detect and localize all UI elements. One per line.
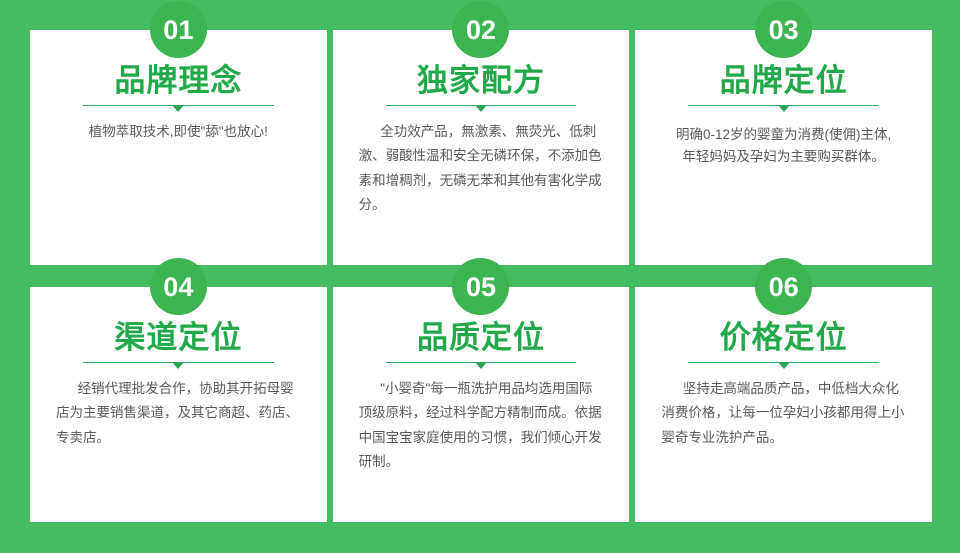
feature-card-02: 02 独家配方 全功效产品，無激素、無荧光、低刺激、弱酸性温和安全无磷环保，不添… bbox=[333, 30, 630, 265]
card-number-badge: 03 bbox=[755, 1, 812, 58]
chevron-down-icon bbox=[475, 362, 487, 369]
card-description: 坚持走高端品质产品，中低档大众化消费价格，让每一位孕妇小孩都用得上小婴奇专业洗护… bbox=[661, 377, 906, 449]
card-content: 价格定位 坚持走高端品质产品，中低档大众化消费价格，让每一位孕妇小孩都用得上小婴… bbox=[635, 287, 932, 522]
card-title: 价格定位 bbox=[720, 321, 848, 354]
card-description: 经销代理批发合作，协助其开拓母婴店为主要销售渠道，及其它商超、药店、专卖店。 bbox=[56, 377, 301, 449]
card-content: 独家配方 全功效产品，無激素、無荧光、低刺激、弱酸性温和安全无磷环保，不添加色素… bbox=[333, 30, 630, 265]
card-description: 植物萃取技术,即使"舔"也放心! bbox=[56, 120, 301, 144]
feature-card-grid: 01 品牌理念 植物萃取技术,即使"舔"也放心! 02 独家配方 全功效产品，無… bbox=[0, 0, 960, 553]
feature-card-05: 05 品质定位 "小婴奇"每一瓶洗护用品均选用国际顶级原料，经过科学配方精制而成… bbox=[333, 287, 630, 522]
card-description: 全功效产品，無激素、無荧光、低刺激、弱酸性温和安全无磷环保，不添加色素和增稠剂，… bbox=[357, 120, 606, 216]
chevron-down-icon bbox=[172, 105, 184, 112]
card-number: 06 bbox=[769, 274, 799, 301]
card-number-badge: 04 bbox=[150, 258, 207, 315]
card-content: 品质定位 "小婴奇"每一瓶洗护用品均选用国际顶级原料，经过科学配方精制而成。依据… bbox=[333, 287, 630, 522]
card-number: 05 bbox=[466, 274, 496, 301]
card-content: 品牌理念 植物萃取技术,即使"舔"也放心! bbox=[30, 30, 327, 265]
card-title: 品质定位 bbox=[417, 321, 545, 354]
title-divider bbox=[688, 362, 879, 363]
card-number: 02 bbox=[466, 17, 496, 44]
chevron-down-icon bbox=[475, 105, 487, 112]
chevron-down-icon bbox=[172, 362, 184, 369]
title-divider bbox=[688, 105, 879, 106]
card-content: 品牌定位 明确0-12岁的婴童为消费(使佣)主体, 年轻妈妈及孕妇为主要购买群体… bbox=[635, 30, 932, 265]
chevron-down-icon bbox=[778, 362, 790, 369]
card-title: 独家配方 bbox=[417, 64, 545, 97]
title-divider bbox=[386, 362, 577, 363]
card-content: 渠道定位 经销代理批发合作，协助其开拓母婴店为主要销售渠道，及其它商超、药店、专… bbox=[30, 287, 327, 522]
description-line: 明确0-12岁的婴童为消费(使佣)主体, bbox=[661, 124, 906, 145]
card-title: 品牌定位 bbox=[720, 64, 848, 97]
card-number: 03 bbox=[769, 17, 799, 44]
description-line: 年轻妈妈及孕妇为主要购买群体。 bbox=[661, 146, 906, 167]
title-divider bbox=[83, 105, 274, 106]
feature-card-06: 06 价格定位 坚持走高端品质产品，中低档大众化消费价格，让每一位孕妇小孩都用得… bbox=[635, 287, 932, 522]
infographic-page: 01 品牌理念 植物萃取技术,即使"舔"也放心! 02 独家配方 全功效产品，無… bbox=[0, 0, 960, 553]
feature-card-01: 01 品牌理念 植物萃取技术,即使"舔"也放心! bbox=[30, 30, 327, 265]
card-number: 04 bbox=[163, 274, 193, 301]
card-title: 品牌理念 bbox=[114, 64, 242, 97]
feature-card-04: 04 渠道定位 经销代理批发合作，协助其开拓母婴店为主要销售渠道，及其它商超、药… bbox=[30, 287, 327, 522]
card-description: 明确0-12岁的婴童为消费(使佣)主体, 年轻妈妈及孕妇为主要购买群体。 bbox=[661, 124, 906, 166]
card-number-badge: 06 bbox=[755, 258, 812, 315]
feature-card-03: 03 品牌定位 明确0-12岁的婴童为消费(使佣)主体, 年轻妈妈及孕妇为主要购… bbox=[635, 30, 932, 265]
title-divider bbox=[386, 105, 577, 106]
title-divider bbox=[83, 362, 274, 363]
card-number: 01 bbox=[163, 17, 193, 44]
card-title: 渠道定位 bbox=[114, 321, 242, 354]
card-number-badge: 01 bbox=[150, 1, 207, 58]
card-description: "小婴奇"每一瓶洗护用品均选用国际顶级原料，经过科学配方精制而成。依据中国宝宝家… bbox=[357, 377, 606, 473]
chevron-down-icon bbox=[778, 105, 790, 112]
